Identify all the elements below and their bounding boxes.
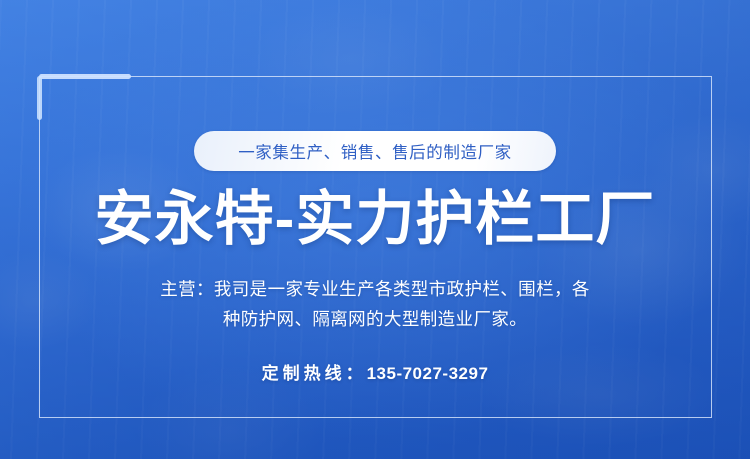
description-line-2: 种防护网、隔离网的大型制造业厂家。: [125, 304, 625, 334]
hotline-row: 定制热线：135-7027-3297: [262, 359, 489, 384]
banner-content: 一家集生产、销售、售后的制造厂家 安永特-实力护栏工厂 主营：我司是一家专业生产…: [0, 0, 750, 459]
promotional-banner: 一家集生产、销售、售后的制造厂家 安永特-实力护栏工厂 主营：我司是一家专业生产…: [0, 0, 750, 459]
tagline-badge: 一家集生产、销售、售后的制造厂家: [194, 131, 556, 171]
company-headline: 安永特-实力护栏工厂: [95, 188, 656, 252]
hotline-label: 定制热线：: [262, 364, 367, 383]
tagline-badge-text: 一家集生产、销售、售后的制造厂家: [238, 139, 512, 163]
business-description: 主营：我司是一家专业生产各类型市政护栏、围栏，各 种防护网、隔离网的大型制造业厂…: [125, 274, 625, 334]
description-line-1: 主营：我司是一家专业生产各类型市政护栏、围栏，各: [125, 274, 625, 304]
hotline-number[interactable]: 135-7027-3297: [367, 364, 489, 383]
